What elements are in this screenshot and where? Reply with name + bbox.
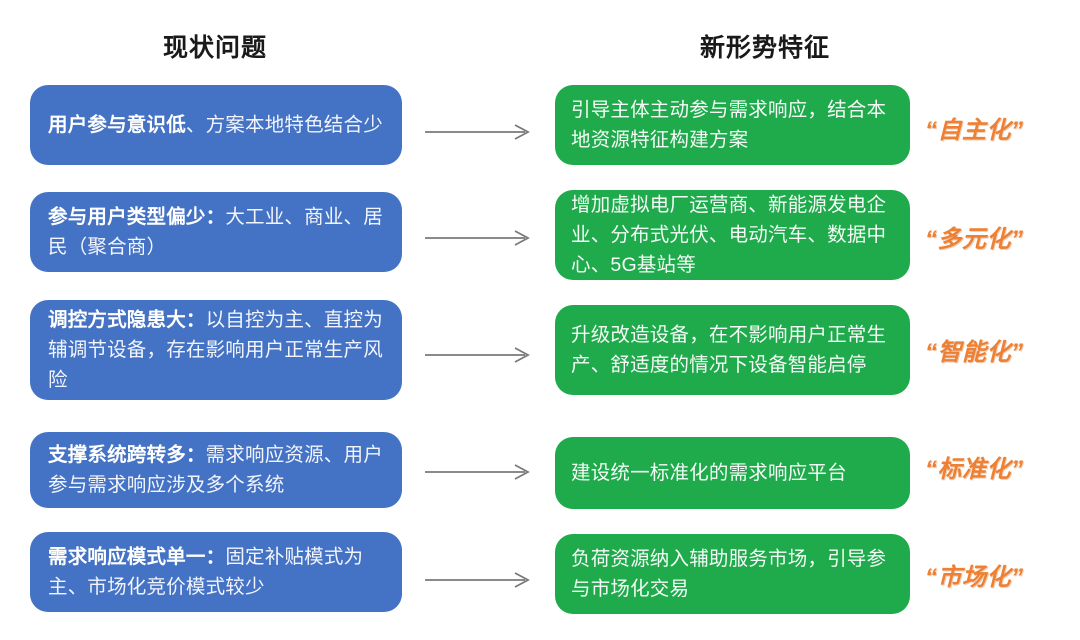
- arrow-right-icon-3: [425, 345, 535, 365]
- feature-text-5: 负荷资源纳入辅助服务市场，引导参与市场化交易: [571, 544, 896, 604]
- arrow-right-icon-1: [425, 122, 535, 142]
- problem-box-5[interactable]: 需求响应模式单一：固定补贴模式为主、市场化竞价模式较少: [30, 532, 402, 612]
- keyword-label-5: “市场化”: [925, 557, 1065, 592]
- problem-text-5: 需求响应模式单一：固定补贴模式为主、市场化竞价模式较少: [48, 542, 387, 602]
- arrow-right-icon-5: [425, 570, 535, 590]
- problem-text-3: 调控方式隐患大：以自控为主、直控为辅调节设备，存在影响用户正常生产风险: [48, 305, 387, 395]
- keyword-label-3: “智能化”: [925, 332, 1065, 367]
- feature-box-4[interactable]: 建设统一标准化的需求响应平台: [555, 437, 910, 509]
- problem-lead-1: 用户参与意识低: [48, 114, 186, 136]
- feature-text-2: 增加虚拟电厂运营商、新能源发电企业、分布式光伏、电动汽车、数据中心、5G基站等: [571, 190, 896, 280]
- feature-text-4: 建设统一标准化的需求响应平台: [571, 458, 847, 488]
- feature-text-1: 引导主体主动参与需求响应，结合本地资源特征构建方案: [571, 95, 896, 155]
- problem-lead-3: 调控方式隐患大：: [48, 309, 206, 331]
- column-header-features: 新形势特征: [670, 28, 860, 64]
- feature-box-5[interactable]: 负荷资源纳入辅助服务市场，引导参与市场化交易: [555, 534, 910, 614]
- feature-box-2[interactable]: 增加虚拟电厂运营商、新能源发电企业、分布式光伏、电动汽车、数据中心、5G基站等: [555, 190, 910, 280]
- arrow-right-icon-2: [425, 228, 535, 248]
- keyword-label-2: “多元化”: [925, 219, 1065, 254]
- keyword-label-1: “自主化”: [925, 110, 1065, 145]
- problem-text-4: 支撑系统跨转多：需求响应资源、用户参与需求响应涉及多个系统: [48, 440, 387, 500]
- problem-lead-5: 需求响应模式单一：: [48, 546, 225, 568]
- problem-rest-1: 、方案本地特色结合少: [186, 114, 383, 136]
- feature-box-1[interactable]: 引导主体主动参与需求响应，结合本地资源特征构建方案: [555, 85, 910, 165]
- problem-box-2[interactable]: 参与用户类型偏少：大工业、商业、居民（聚合商）: [30, 192, 402, 272]
- problem-lead-2: 参与用户类型偏少：: [48, 206, 225, 228]
- problem-box-1[interactable]: 用户参与意识低、方案本地特色结合少: [30, 85, 402, 165]
- problem-lead-4: 支撑系统跨转多：: [48, 444, 206, 466]
- feature-text-3: 升级改造设备，在不影响用户正常生产、舒适度的情况下设备智能启停: [571, 320, 896, 380]
- arrow-right-icon-4: [425, 462, 535, 482]
- problem-text-1: 用户参与意识低、方案本地特色结合少: [48, 110, 383, 140]
- feature-box-3[interactable]: 升级改造设备，在不影响用户正常生产、舒适度的情况下设备智能启停: [555, 305, 910, 395]
- column-header-problems: 现状问题: [120, 28, 310, 64]
- keyword-label-4: “标准化”: [925, 449, 1065, 484]
- problem-box-3[interactable]: 调控方式隐患大：以自控为主、直控为辅调节设备，存在影响用户正常生产风险: [30, 300, 402, 400]
- slide-canvas: 现状问题 新形势特征 用户参与意识低、方案本地特色结合少 引导主体主动参与需求响…: [0, 0, 1080, 640]
- problem-text-2: 参与用户类型偏少：大工业、商业、居民（聚合商）: [48, 202, 387, 262]
- problem-box-4[interactable]: 支撑系统跨转多：需求响应资源、用户参与需求响应涉及多个系统: [30, 432, 402, 508]
